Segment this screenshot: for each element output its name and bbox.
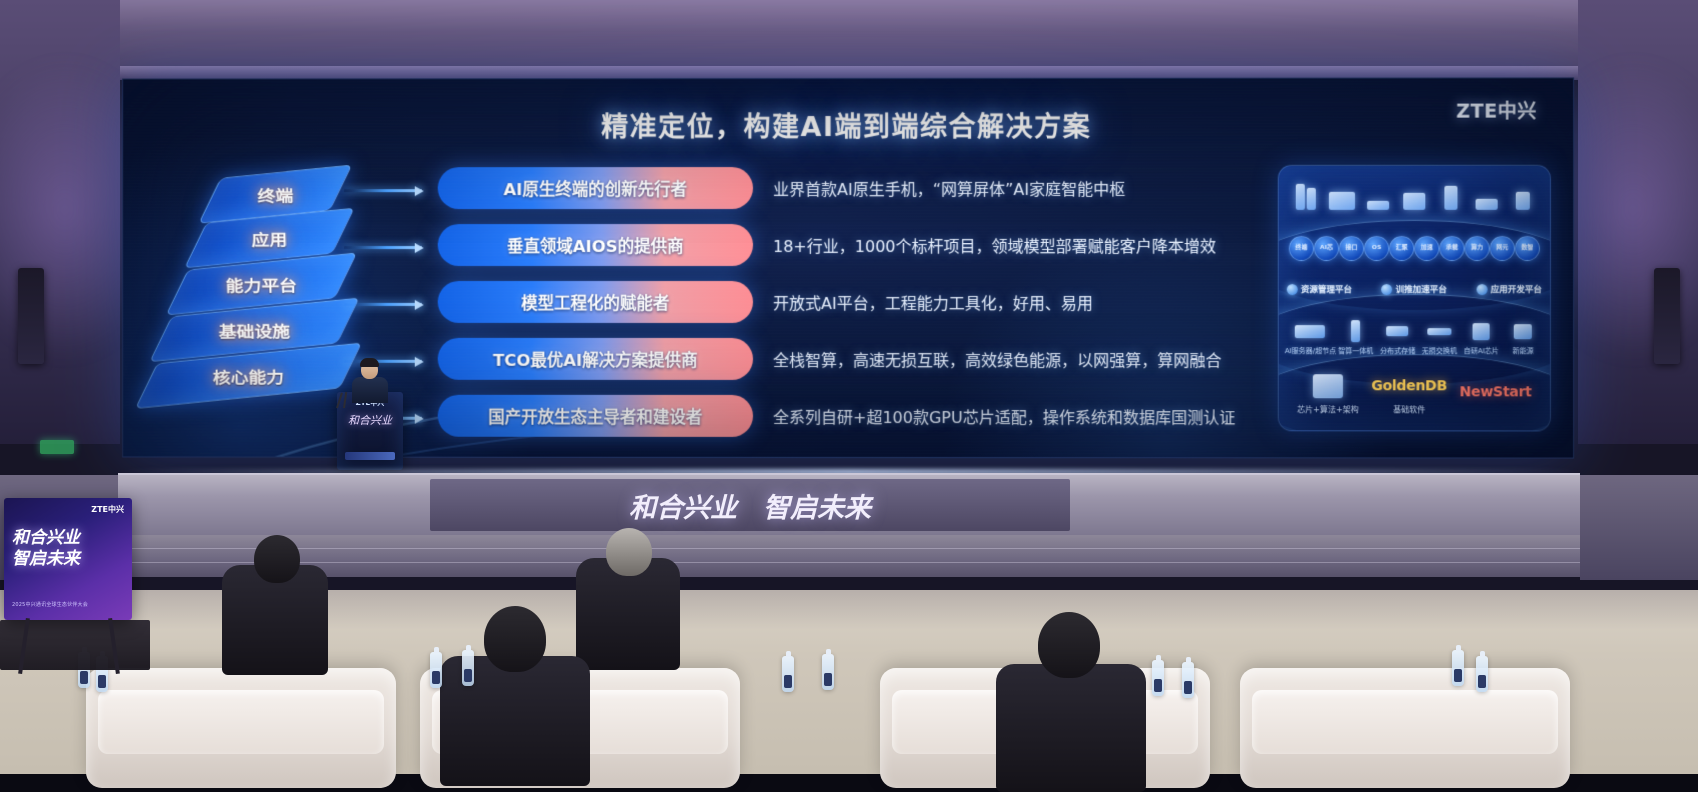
pyramid-layer-label: 核心能力: [146, 354, 351, 397]
slide-title: 精准定位，构建AI端到端综合解决方案: [123, 105, 1573, 145]
hardware-label: 无损交换机: [1418, 346, 1460, 356]
hardware-distributed-storage: 分布式存储: [1377, 318, 1419, 356]
hardware-label: 分布式存储: [1377, 346, 1419, 356]
exit-sign-icon: [40, 440, 74, 454]
stage-side-block-right: [1580, 475, 1698, 580]
capsule-ai-native-terminal[interactable]: AI原生终端的创新先行者: [438, 167, 753, 209]
audience-sofa: [86, 668, 396, 788]
arrow-right-icon: [344, 303, 422, 306]
platform-dot-icon: [1382, 284, 1393, 295]
rack-icon: [1335, 318, 1377, 344]
hardware-self-developed-chip: 自研AI芯片: [1460, 318, 1502, 356]
step-edge: [118, 562, 1580, 563]
monitor-stand-icon: [1363, 178, 1393, 210]
row-description: 业界首款AI原生手机，“网算屏体”AI家庭智能中枢: [773, 167, 1125, 209]
positioning-rows: AI原生终端的创新先行者 业界首款AI原生手机，“网算屏体”AI家庭智能中枢 垂…: [438, 167, 1274, 452]
water-bottle: [430, 652, 442, 688]
water-bottle: [462, 650, 474, 686]
poster-slogan: 和合兴业 智启未来: [12, 528, 80, 571]
capsule-model-engineering[interactable]: 模型工程化的赋能者: [438, 281, 753, 323]
water-bottle: [1182, 662, 1194, 698]
software-label: 基础软件: [1371, 404, 1447, 415]
poster-slogan-line1: 和合兴业: [12, 528, 80, 549]
platform-training-acceleration[interactable]: 训推加速平台: [1382, 283, 1447, 295]
chip-badge: 网元: [1490, 236, 1515, 261]
speaker-body: [352, 377, 388, 403]
speaker-cabinet-left: [18, 268, 44, 364]
device-icon-row: [1291, 178, 1538, 210]
laptop-icon: [1327, 178, 1357, 210]
switch-icon: [1418, 318, 1460, 344]
platform-row: 资源管理平台 训推加速平台 应用开发平台: [1287, 283, 1542, 295]
venue-floor: [0, 590, 1698, 774]
positioning-row: TCO最优AI解决方案提供商 全栈智算，高速无损互联，高效绿色能源，以网强算，算…: [438, 338, 1274, 384]
chip-badge: 数智: [1515, 236, 1540, 261]
chip-icon-row: 终端 AI芯 接口 OS 汇聚 加速 承载 算力 网元 数智: [1289, 236, 1540, 261]
capsule-domestic-ecosystem[interactable]: 国产开放生态主导者和建设者: [438, 395, 753, 437]
positioning-row: 垂直领域AIOS的提供商 18+行业，1000个标杆项目，领域模型部署赋能客户降…: [438, 224, 1274, 270]
water-bottle: [822, 654, 834, 690]
software-label: 芯片+算法+架构: [1297, 404, 1359, 415]
water-bottle: [1476, 656, 1488, 692]
capsule-label: 模型工程化的赋能者: [521, 290, 669, 314]
stage-slogan-right: 智启未来: [763, 486, 871, 525]
event-poster: ZTE中兴 和合兴业 智启未来 2025中兴通讯全球生态伙伴大会: [4, 498, 132, 620]
poster-logo: ZTE中兴: [91, 504, 124, 515]
wearable-icon: [1508, 178, 1538, 210]
platform-dot-icon: [1287, 284, 1298, 295]
software-row: 芯片+算法+架构 GoldenDB 基础软件 NewStart: [1291, 371, 1538, 415]
storage-icon: [1377, 318, 1419, 344]
energy-icon: [1502, 318, 1544, 344]
stage-slogan: 和合兴业 智启未来: [430, 479, 1070, 531]
podium-script: 和合兴业: [337, 412, 403, 428]
row-description: 开放式AI平台，工程能力工具化，好用、易用: [773, 281, 1093, 323]
hardware-new-energy: 新能源: [1502, 318, 1544, 356]
chip-badge: OS: [1364, 236, 1389, 261]
arrow-right-icon: [344, 246, 422, 249]
chip-badge: 加速: [1414, 236, 1439, 261]
positioning-row: 国产开放生态主导者和建设者 全系列自研+超100款GPU芯片适配，操作系统和数据…: [438, 395, 1274, 442]
software-goldendb: GoldenDB 基础软件: [1371, 371, 1447, 415]
platform-resource-management[interactable]: 资源管理平台: [1287, 283, 1352, 295]
goldendb-wordmark: GoldenDB: [1371, 371, 1447, 401]
hardware-integrated-machine: 智算一体机: [1335, 318, 1377, 356]
notebook-open-icon: [1399, 178, 1429, 210]
water-bottle: [1152, 660, 1164, 696]
pyramid-layer-label: 终端: [210, 173, 341, 215]
pyramid-layer-label: 基础设施: [161, 309, 349, 352]
chip-badge: 算力: [1465, 236, 1490, 261]
capsule-label: AI原生终端的创新先行者: [504, 176, 688, 200]
platform-dot-icon: [1477, 284, 1488, 295]
audience-sofa: [1240, 668, 1570, 788]
platform-app-development[interactable]: 应用开发平台: [1477, 283, 1542, 295]
software-chip-algo-arch: 芯片+算法+架构: [1297, 371, 1359, 415]
tablet-icon: [1435, 178, 1465, 210]
water-bottle: [782, 656, 794, 692]
goldendb-brand: GoldenDB: [1371, 378, 1447, 394]
speaker-cabinet-right: [1654, 268, 1680, 364]
chip-badge: 汇聚: [1389, 236, 1414, 261]
speaker-person: [348, 360, 392, 400]
water-bottle: [1452, 650, 1464, 686]
hardware-label: 智算一体机: [1335, 346, 1377, 356]
chip-badge: 承载: [1439, 236, 1464, 261]
platform-label: 训推加速平台: [1396, 283, 1447, 295]
server-icon: [1285, 318, 1335, 344]
arrow-right-icon: [344, 189, 422, 192]
step-edge: [118, 548, 1580, 549]
newstart-wordmark: NewStart: [1460, 377, 1532, 407]
chip-badge: 接口: [1339, 236, 1364, 261]
router-icon: [1472, 178, 1502, 210]
cpu-die-icon: [1297, 371, 1359, 401]
capsule-label: 垂直领域AIOS的提供商: [507, 233, 683, 257]
positioning-row: AI原生终端的创新先行者 业界首款AI原生手机，“网算屏体”AI家庭智能中枢: [438, 167, 1274, 213]
hardware-lossless-switch: 无损交换机: [1418, 318, 1460, 356]
ceiling: [0, 0, 1698, 80]
poster-slogan-line2: 智启未来: [12, 549, 80, 570]
capsule-vertical-aios[interactable]: 垂直领域AIOS的提供商: [438, 224, 753, 266]
speaker-hair: [360, 358, 379, 367]
stage-steps: [118, 535, 1580, 577]
platform-label: 资源管理平台: [1301, 283, 1352, 295]
chip-badge: AI芯: [1314, 236, 1339, 261]
poster-footer: 2025中兴通讯全球生态伙伴大会: [12, 601, 88, 608]
stage-slogan-left: 和合兴业: [629, 486, 737, 525]
capsule-tco-optimal[interactable]: TCO最优AI解决方案提供商: [438, 338, 753, 380]
hardware-label: AI服务器/超节点: [1285, 346, 1335, 356]
chip-icon: [1460, 318, 1502, 344]
zte-logo: ZTE中兴: [1456, 97, 1537, 124]
pyramid-layer-label: 能力平台: [177, 263, 346, 305]
row-description: 全栈智算，高速无损互联，高效绿色能源，以网强算，算网融合: [773, 338, 1222, 380]
capability-pyramid: 终端 应用 能力平台 基础设施 核心能力: [151, 171, 350, 430]
newstart-brand: NewStart: [1460, 384, 1532, 400]
capsule-label: TCO最优AI解决方案提供商: [493, 347, 697, 371]
platform-label: 应用开发平台: [1491, 283, 1542, 295]
row-description: 全系列自研+超100款GPU芯片适配，操作系统和数据库国测认证: [773, 395, 1235, 437]
hardware-row: AI服务器/超节点 智算一体机 分布式存储 无损交换机 自研AI芯片 新能源: [1285, 318, 1544, 356]
software-newstart: NewStart: [1460, 377, 1532, 410]
product-portfolio-panel: 终端 AI芯 接口 OS 汇聚 加速 承载 算力 网元 数智 资源管理平台 训推…: [1278, 165, 1551, 432]
hardware-ai-server: AI服务器/超节点: [1285, 318, 1335, 356]
row-description: 18+行业，1000个标杆项目，领域模型部署赋能客户降本增效: [773, 224, 1216, 266]
hardware-label: 新能源: [1502, 346, 1544, 356]
stage-slogan-band: 和合兴业 智启未来: [430, 479, 1070, 531]
smartphone-pair-icon: [1291, 178, 1321, 210]
chip-badge: 终端: [1289, 236, 1314, 261]
positioning-row: 模型工程化的赋能者 开放式AI平台，工程能力工具化，好用、易用: [438, 281, 1274, 327]
pyramid-layer-label: 应用: [195, 217, 343, 259]
capsule-label: 国产开放生态主导者和建设者: [488, 404, 702, 428]
hardware-label: 自研AI芯片: [1460, 346, 1502, 356]
